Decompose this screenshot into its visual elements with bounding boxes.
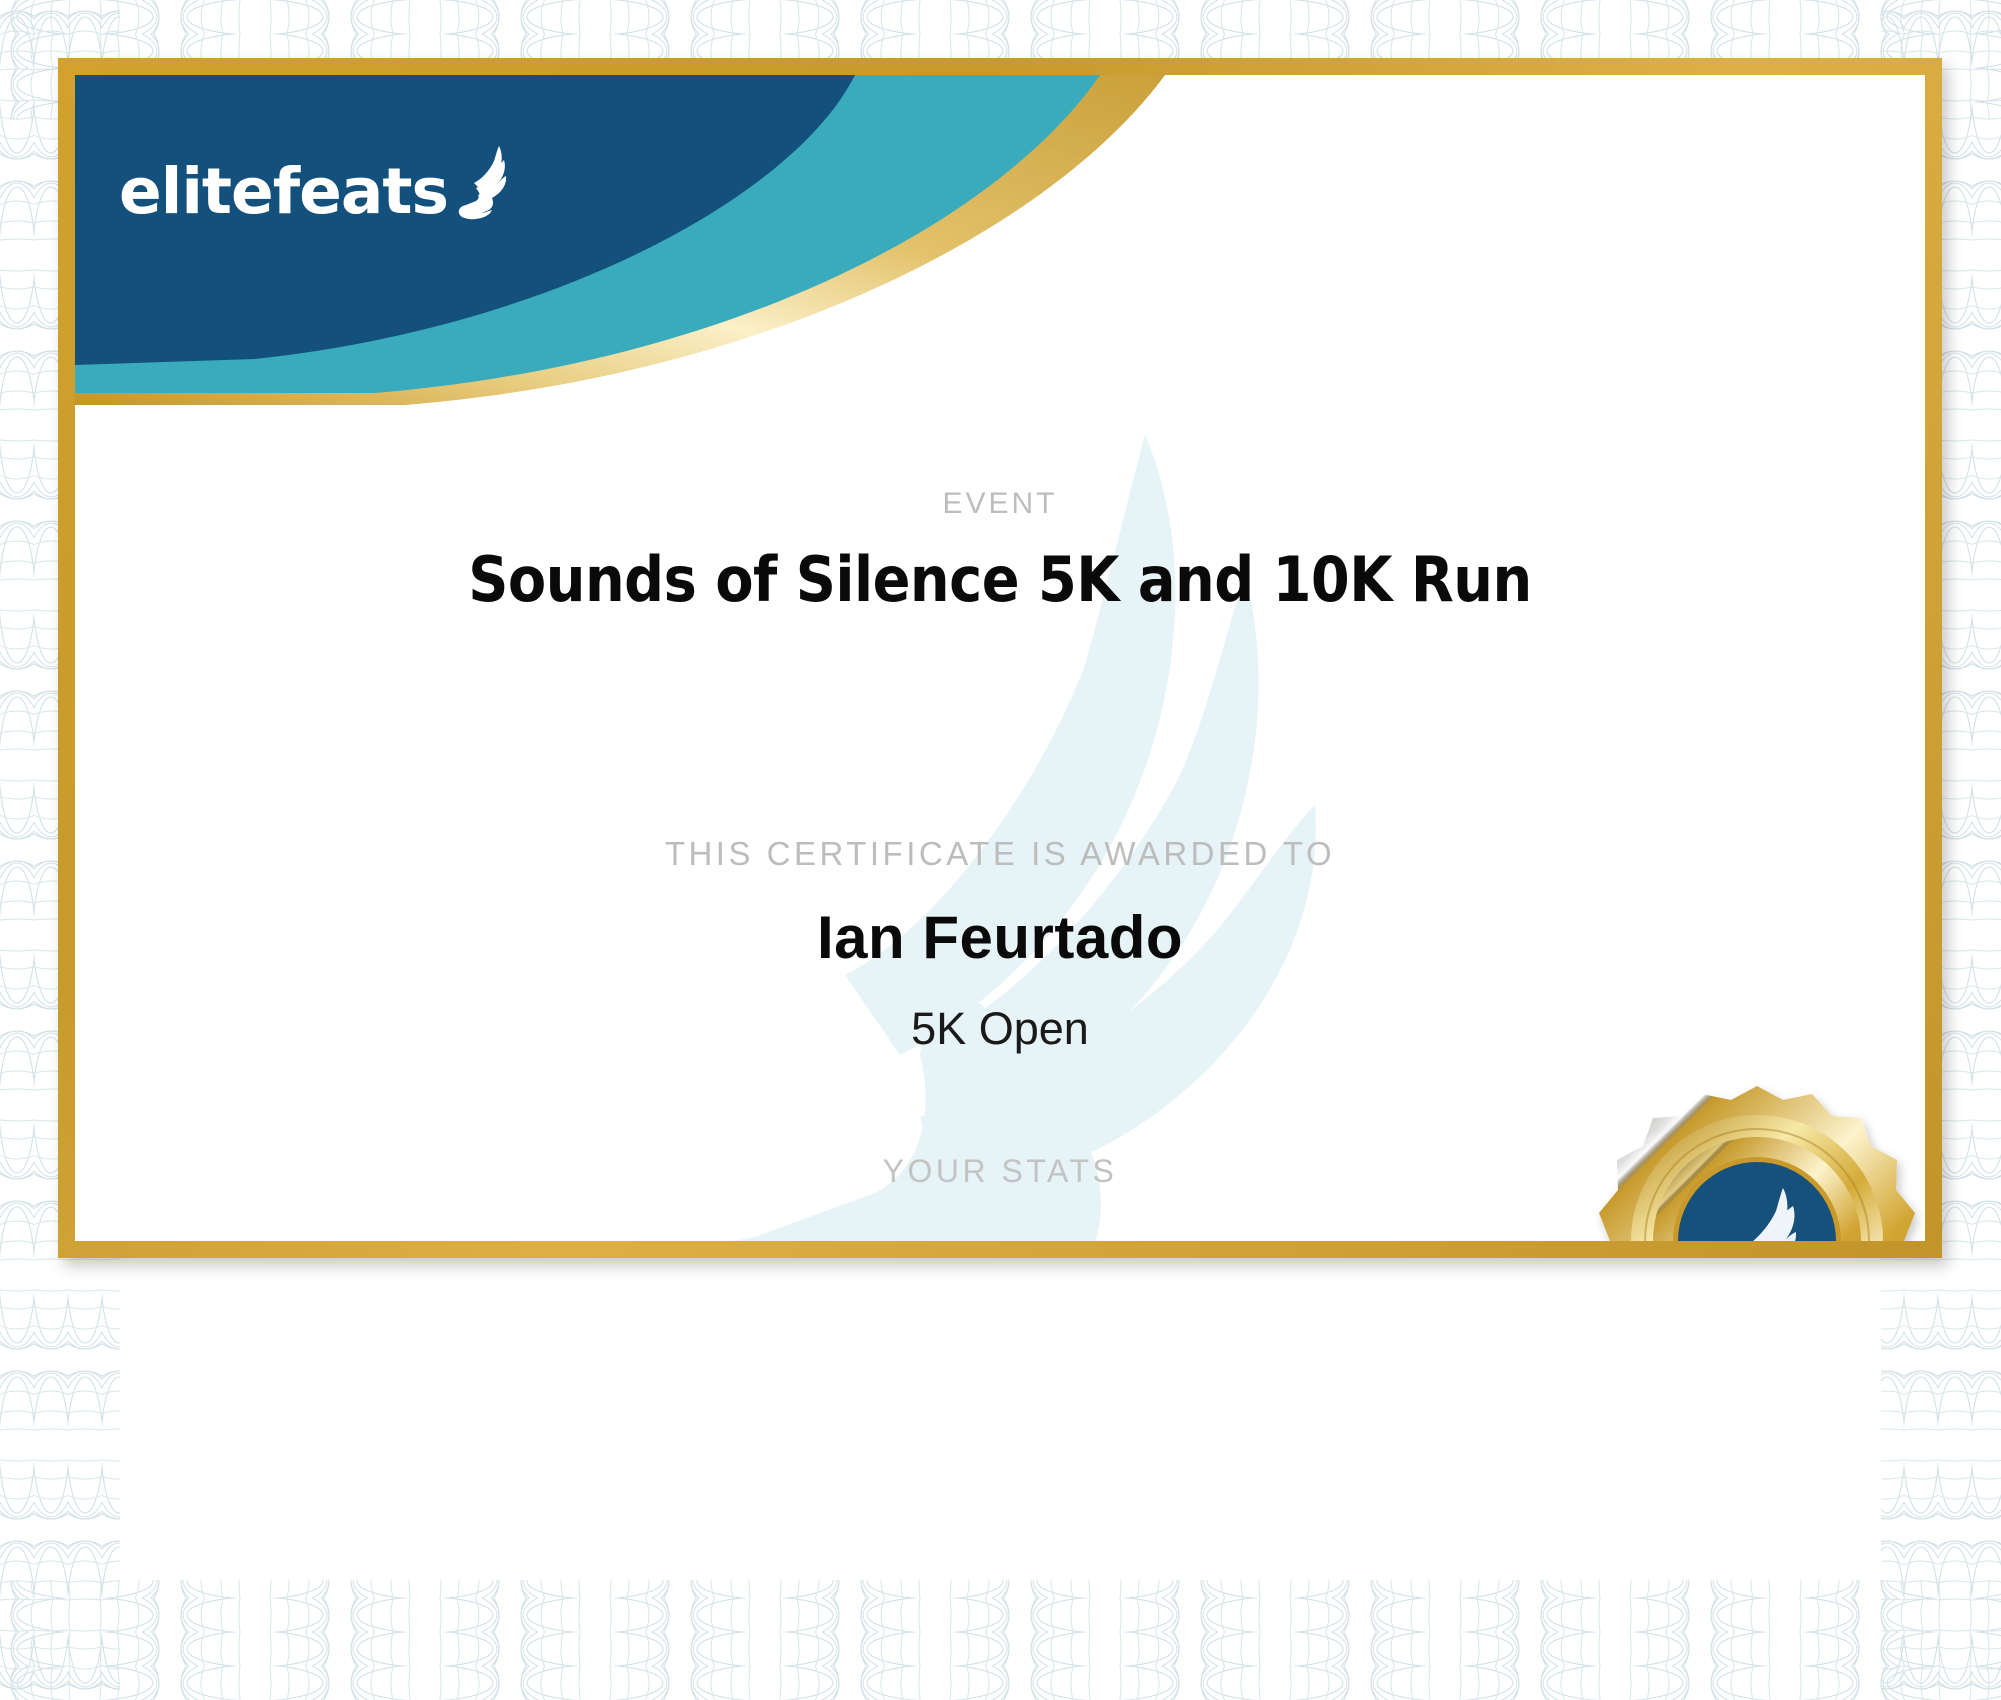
event-label: EVENT (75, 487, 1925, 521)
event-title: Sounds of Silence 5K and 10K Run (75, 543, 1925, 616)
certificate-page: elitefeats (0, 0, 2001, 1700)
certificate-content: EVENT Sounds of Silence 5K and 10K Run T… (75, 75, 1925, 1241)
certificate-frame: elitefeats (58, 58, 1942, 1258)
recipient-name: Ian Feurtado (75, 903, 1925, 972)
finisher-medal-badge: 2019 (1587, 1080, 1925, 1241)
awarded-to-label: THIS CERTIFICATE IS AWARDED TO (75, 835, 1925, 873)
recipient-division: 5K Open (75, 1003, 1925, 1055)
